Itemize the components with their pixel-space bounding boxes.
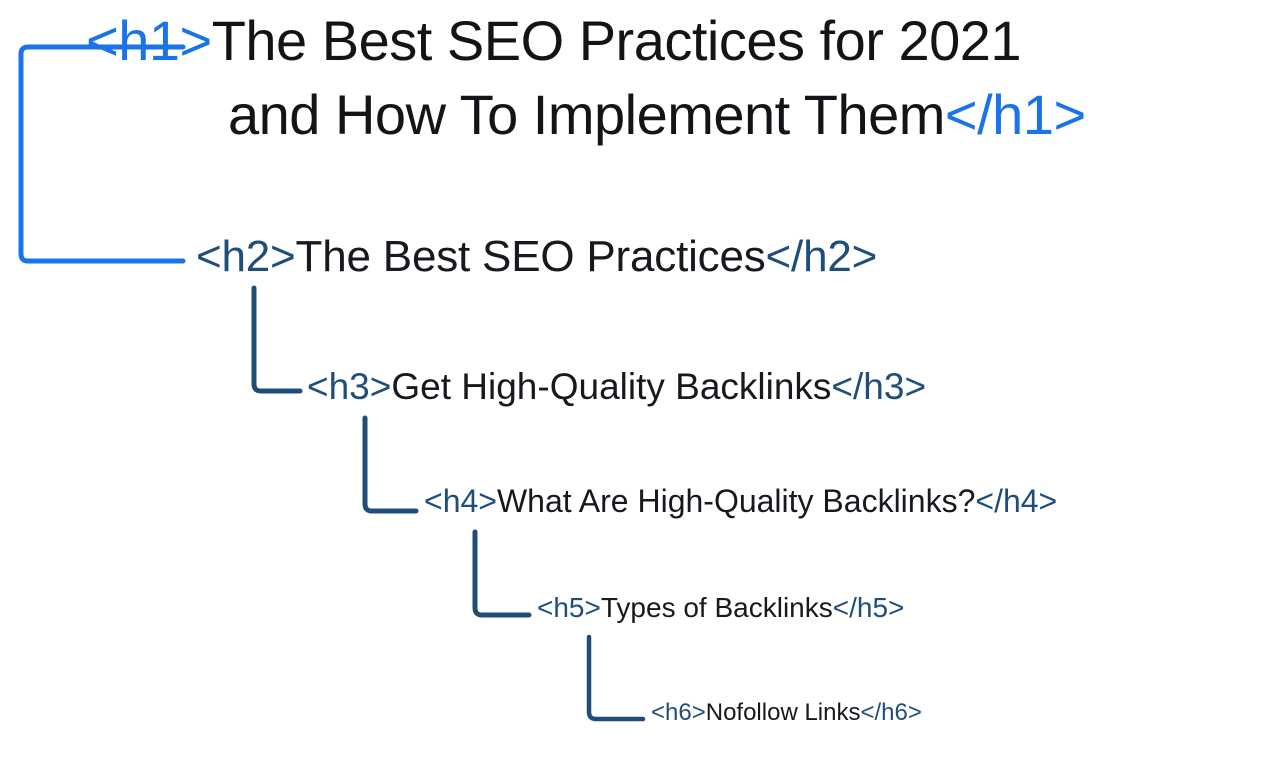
heading-hierarchy-diagram: <h1>The Best SEO Practices for 2021 and …: [0, 0, 1288, 758]
h6-close-tag: </h6>: [860, 699, 921, 726]
h5-close-tag: </h5>: [833, 592, 905, 623]
h5-text: Types of Backlinks: [601, 592, 833, 623]
h3-open-tag: <h3>: [307, 366, 391, 407]
h3-text: Get High-Quality Backlinks: [391, 366, 831, 407]
h2-open-tag: <h2>: [196, 232, 296, 281]
h2-text: The Best SEO Practices: [296, 232, 766, 281]
h6-open-tag: <h6>: [651, 699, 706, 726]
connector-h4-to-h5: [475, 532, 529, 615]
h1-text-line2: and How To Implement Them: [228, 83, 945, 146]
h4-open-tag: <h4>: [424, 483, 497, 519]
node-h2: <h2>The Best SEO Practices</h2>: [196, 235, 877, 279]
h2-close-tag: </h2>: [766, 232, 878, 281]
h6-text: Nofollow Links: [706, 699, 861, 726]
node-h4: <h4>What Are High-Quality Backlinks?</h4…: [424, 485, 1057, 517]
h1-line2-wrapper: and How To Implement Them</h1>: [228, 87, 1086, 143]
h1-open-tag: <h1>: [86, 9, 212, 72]
node-h1: <h1>The Best SEO Practices for 2021 and …: [86, 13, 1086, 143]
h1-text-line1: The Best SEO Practices for 2021: [212, 9, 1021, 72]
node-h6: <h6>Nofollow Links</h6>: [651, 701, 922, 725]
h4-text: What Are High-Quality Backlinks?: [497, 483, 975, 519]
node-h3: <h3>Get High-Quality Backlinks</h3>: [307, 368, 926, 405]
h4-close-tag: </h4>: [975, 483, 1057, 519]
h1-close-tag: </h1>: [945, 83, 1086, 146]
h3-close-tag: </h3>: [831, 366, 926, 407]
h5-open-tag: <h5>: [537, 592, 601, 623]
node-h5: <h5>Types of Backlinks</h5>: [537, 594, 904, 622]
connector-h3-to-h4: [365, 418, 416, 511]
connector-h5-to-h6: [589, 637, 643, 719]
connector-h2-to-h3: [254, 288, 300, 391]
